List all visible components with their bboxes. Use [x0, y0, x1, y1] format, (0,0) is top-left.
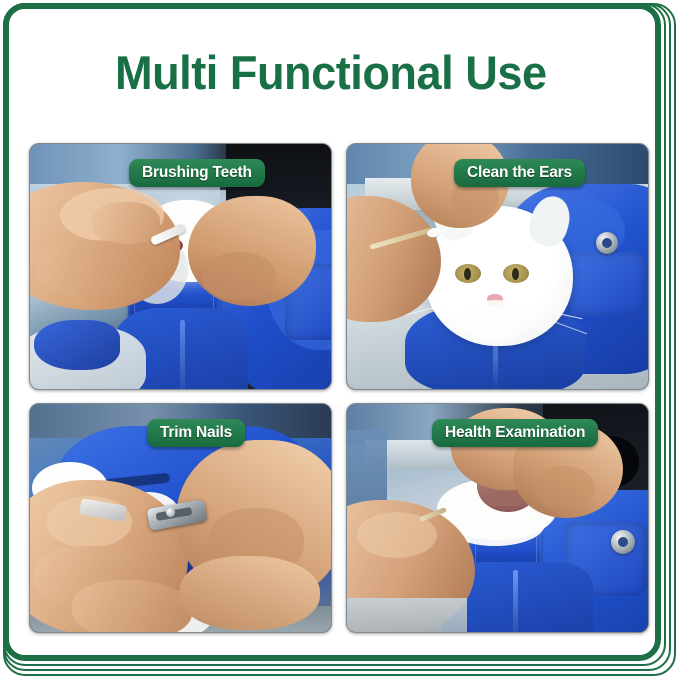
panel-badge-health-examination: Health Examination — [432, 419, 598, 447]
feature-grid: Brushing Teeth — [29, 143, 649, 633]
feature-panel-trim-nails: Trim Nails — [29, 403, 332, 633]
page-title-wrap: Multi Functional Use — [0, 48, 662, 99]
feature-panel-brushing-teeth: Brushing Teeth — [29, 143, 332, 390]
panel-badge-brushing-teeth: Brushing Teeth — [129, 159, 265, 187]
feature-panel-clean-the-ears: Clean the Ears — [346, 143, 649, 390]
page-title: Multi Functional Use — [115, 48, 547, 99]
poster: Multi Functional Use — [0, 0, 679, 679]
panel-badge-trim-nails: Trim Nails — [147, 419, 245, 447]
feature-panel-health-examination: Health Examination — [346, 403, 649, 633]
panel-badge-clean-the-ears: Clean the Ears — [454, 159, 585, 187]
